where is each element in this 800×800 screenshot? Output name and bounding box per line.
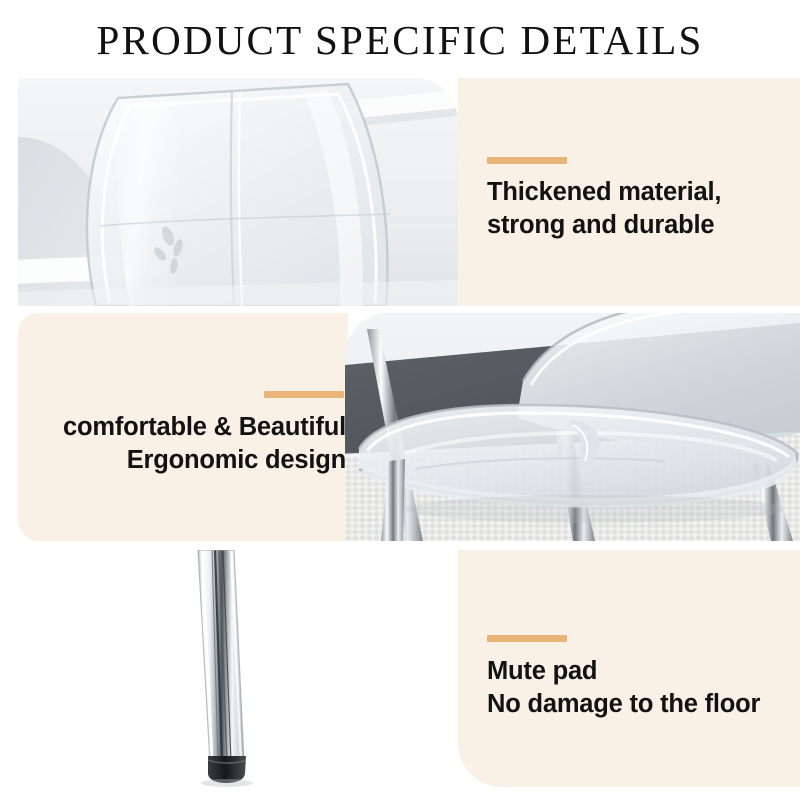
acrylic-chair-seat-chrome-legs-photo <box>345 313 800 541</box>
caption-ergonomic-design: comfortable & Beautiful Ergonomic design <box>63 411 346 477</box>
product-detail-page: PRODUCT SPECIFIC DETAILS <box>0 0 800 800</box>
accent-bar <box>487 157 567 164</box>
caption-line-1: Thickened material, <box>487 178 721 206</box>
caption-panel-mute-pad: Mute pad No damage to the floor <box>458 550 800 787</box>
caption-mute-pad: Mute pad No damage to the floor <box>487 655 760 721</box>
caption-line-2: No damage to the floor <box>487 690 760 718</box>
section-mute-pad: Mute pad No damage to the floor <box>0 550 800 787</box>
accent-bar <box>264 391 344 398</box>
caption-line-2: strong and durable <box>487 211 714 239</box>
page-title: PRODUCT SPECIFIC DETAILS <box>0 16 800 64</box>
caption-line-1: Mute pad <box>487 657 597 685</box>
caption-panel-thickened-material: Thickened material, strong and durable <box>458 78 800 306</box>
caption-line-1: comfortable & Beautiful <box>63 413 346 441</box>
section-ergonomic-design: comfortable & Beautiful Ergonomic design <box>0 313 800 541</box>
section-thickened-material: Thickened material, strong and durable <box>0 78 800 306</box>
caption-panel-ergonomic-design: comfortable & Beautiful Ergonomic design <box>18 313 348 541</box>
accent-bar <box>487 635 567 642</box>
caption-line-2: Ergonomic design <box>127 446 346 474</box>
clear-acrylic-chair-backrest-photo <box>18 78 458 306</box>
chrome-chair-leg-mute-pad-photo <box>0 550 458 787</box>
caption-thickened-material: Thickened material, strong and durable <box>487 176 721 242</box>
